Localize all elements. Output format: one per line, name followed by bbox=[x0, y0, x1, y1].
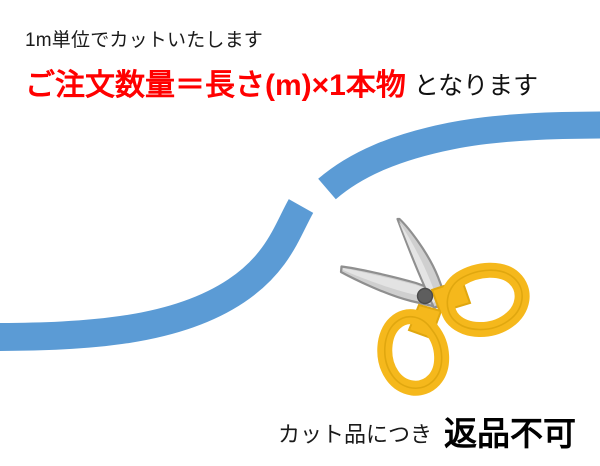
order-formula-suffix: となります bbox=[406, 72, 538, 100]
order-formula-emphasis: ご注文数量＝長さ(m)×1本物 bbox=[25, 69, 406, 102]
notice-graphic-canvas: 1m単位でカットいたします ご注文数量＝長さ(m)×1本物となります カット品に… bbox=[0, 0, 600, 466]
return-policy-note: カット品につき返品不可 bbox=[278, 417, 576, 450]
scissor-pivot-icon bbox=[418, 289, 433, 304]
headline-order-formula: ご注文数量＝長さ(m)×1本物となります bbox=[25, 71, 538, 101]
headline-cut-unit: 1m単位でカットいたします bbox=[25, 31, 263, 50]
return-policy-prefix: カット品につき bbox=[278, 422, 432, 447]
return-policy-emphasis: 返品不可 bbox=[432, 415, 576, 452]
